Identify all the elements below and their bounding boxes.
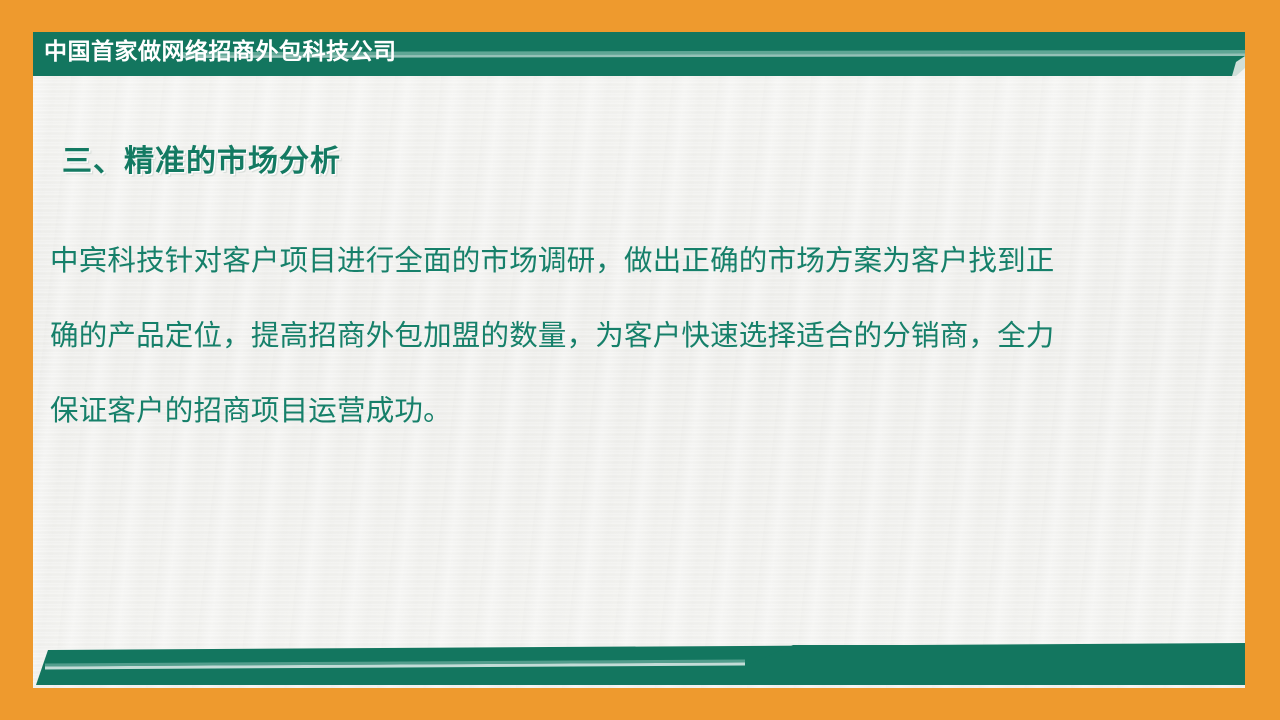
paragraph-line: 确的产品定位，提高招商外包加盟的数量，为客户快速选择适合的分销商，全力 xyxy=(50,298,1210,373)
body-paragraph: 中宾科技针对客户项目进行全面的市场调研，做出正确的市场方案为客户找到正 确的产品… xyxy=(50,223,1210,448)
slide-canvas: 中国首家做网络招商外包科技公司 三、精准的市场分析 中宾科技针对客户项目进行全面… xyxy=(0,0,1280,720)
frame-border-right xyxy=(1245,0,1280,720)
slide-content: 三、精准的市场分析 中宾科技针对客户项目进行全面的市场调研，做出正确的市场方案为… xyxy=(33,100,1245,620)
frame-border-top xyxy=(0,0,1280,32)
paragraph-line: 中宾科技针对客户项目进行全面的市场调研，做出正确的市场方案为客户找到正 xyxy=(50,223,1210,298)
section-heading: 三、精准的市场分析 xyxy=(62,136,341,180)
paragraph-line: 保证客户的招商项目运营成功。 xyxy=(50,373,1210,448)
frame-border-bottom xyxy=(0,688,1280,720)
frame-border-left xyxy=(0,0,33,720)
